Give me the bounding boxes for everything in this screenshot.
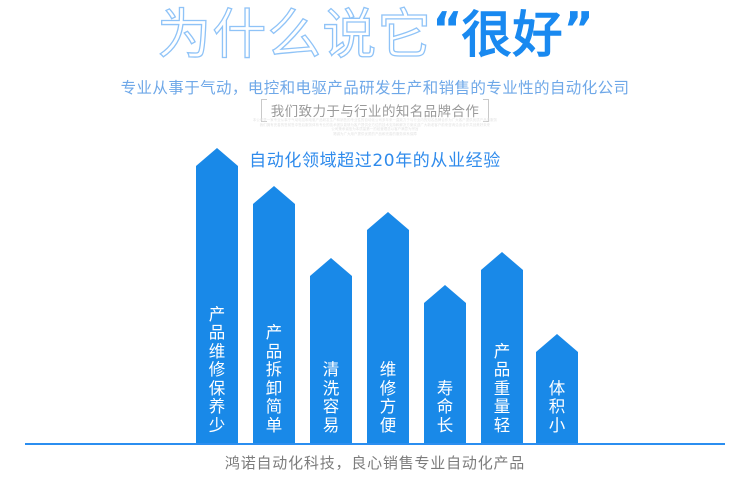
- bar-label: 体积小: [536, 380, 578, 436]
- chart-bar: 体积小: [536, 352, 578, 443]
- chart-bar: 产品维修保养少: [196, 166, 238, 443]
- bar-arrow-tip-icon: [196, 148, 238, 166]
- bar-arrow-tip-icon: [481, 252, 523, 270]
- bar-arrow-tip-icon: [310, 258, 352, 276]
- bar-arrow-tip-icon: [536, 334, 578, 352]
- bar-label: 产品拆卸简单: [253, 324, 295, 435]
- bar-arrow-tip-icon: [253, 186, 295, 204]
- bar-label: 产品维修保养少: [196, 306, 238, 436]
- chart-bar: 产品拆卸简单: [253, 204, 295, 443]
- bar-arrow-tip-icon: [424, 285, 466, 303]
- bar-label: 产品重量轻: [481, 343, 523, 436]
- chart-bar: 产品重量轻: [481, 270, 523, 443]
- promo-banner: 为什么说它“很好” 专业从事于气动，电控和电驱产品研发生产和销售的专业性的自动化…: [0, 0, 750, 478]
- chart-bar: 寿命长: [424, 303, 466, 443]
- bar-arrow-tip-icon: [367, 212, 409, 230]
- bar-label: 清洗容易: [310, 361, 352, 435]
- bar-label: 寿命长: [424, 380, 466, 436]
- chart-bar: 清洗容易: [310, 276, 352, 443]
- arrow-bar-chart: 产品维修保养少产品拆卸简单清洗容易维修方便寿命长产品重量轻体积小: [0, 0, 750, 478]
- footer-tagline: 鸿诺自动化科技，良心销售专业自动化产品: [0, 452, 750, 473]
- chart-bar: 维修方便: [367, 230, 409, 443]
- chart-baseline: [25, 443, 725, 445]
- bar-label: 维修方便: [367, 361, 409, 435]
